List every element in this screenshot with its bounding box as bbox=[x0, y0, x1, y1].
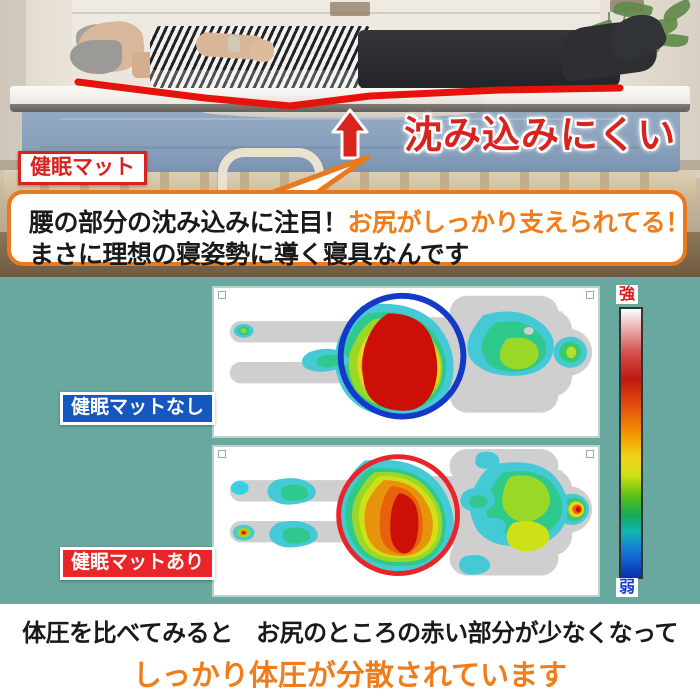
mat-name-tag: 健眠マット bbox=[18, 151, 147, 185]
scale-label-strong: 強 bbox=[616, 285, 638, 304]
label-without-mat: 健眠マットなし bbox=[60, 392, 215, 425]
bottom-line-1: 体圧を比べてみると お尻のところの赤い部分が少なくなって bbox=[0, 613, 700, 648]
bottom-line-2: しっかり体圧が分散されています bbox=[0, 652, 700, 694]
callout-line-1-black: 腰の部分の沈み込みに注目！ bbox=[29, 209, 348, 237]
callout-line-1-orange: お尻がしっかり支えられてる！ bbox=[348, 209, 690, 237]
wristwatch bbox=[228, 36, 240, 52]
pressure-map-without bbox=[212, 286, 600, 438]
sink-resistant-text: 沈み込みにくい bbox=[404, 104, 676, 159]
pressure-map-with bbox=[212, 445, 600, 597]
ad-page: 沈み込みにくい 健眠マット 腰の部分の沈み込みに注目！お尻がしっかり支えられてる… bbox=[0, 0, 700, 700]
pressure-heatmap-with bbox=[214, 447, 598, 595]
label-with-mat: 健眠マットあり bbox=[60, 547, 215, 580]
callout-line-2: まさに理想の寝姿勢に導く寝具なんです bbox=[29, 235, 469, 271]
bottom-caption: 体圧を比べてみると お尻のところの赤い部分が少なくなって しっかり体圧が分散され… bbox=[0, 604, 700, 700]
scale-gradient-bar bbox=[619, 307, 643, 579]
heat-head bbox=[553, 337, 587, 368]
heat-legs bbox=[231, 478, 318, 547]
pressure-heatmap-without bbox=[214, 288, 598, 436]
callout-line-1: 腰の部分の沈み込みに注目！お尻がしっかり支えられてる！ bbox=[29, 203, 690, 239]
pressure-map-section: 健眠マットなし 健眠マットあり 強 弱 bbox=[0, 277, 700, 604]
red-up-arrow-icon bbox=[330, 108, 370, 160]
scale-label-weak: 弱 bbox=[616, 578, 638, 597]
callout-box: 腰の部分の沈み込みに注目！お尻がしっかり支えられてる！ まさに理想の寝姿勢に導く… bbox=[7, 190, 687, 266]
hand bbox=[250, 40, 274, 62]
pressure-color-scale: 強 弱 bbox=[612, 285, 652, 597]
